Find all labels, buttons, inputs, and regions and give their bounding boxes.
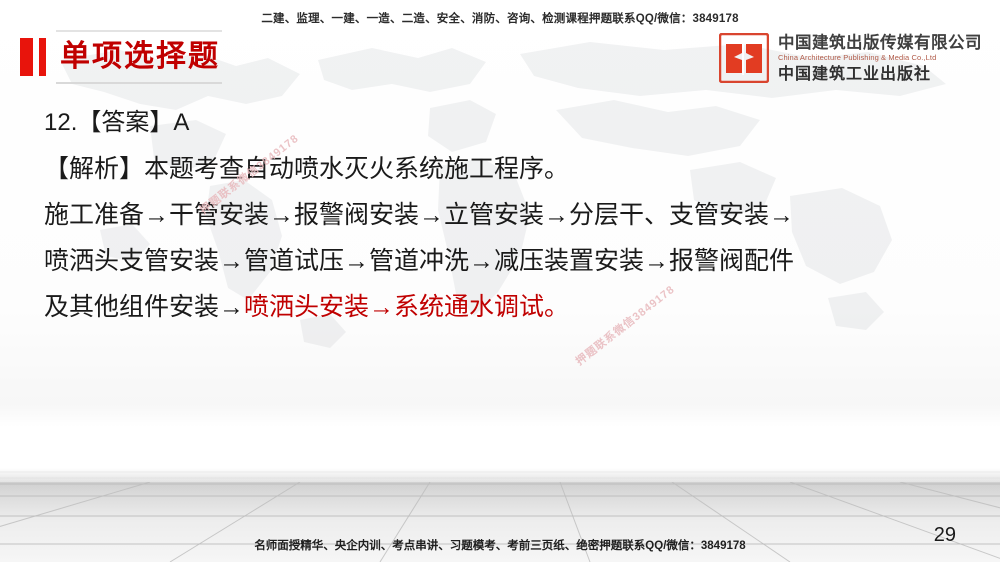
footer-text: 名师面授精华、央企内训、考点串讲、习题模考、考前三页纸、绝密押题联系QQ/微信：… bbox=[0, 537, 1000, 553]
procedure-line-1: 施工准备→干管安装→报警阀安装→立管安装→分层干、支管安装→ bbox=[44, 192, 974, 238]
publisher-logo: 中国建筑出版传媒有限公司 China Architecture Publishi… bbox=[719, 33, 982, 83]
slide-body: 12.【答案】A 【解析】本题考查自动喷水灭火系统施工程序。 施工准备→干管安装… bbox=[44, 100, 974, 330]
procedure-line-3-black: 及其他组件安装→ bbox=[44, 293, 244, 321]
title-accent-bar-primary bbox=[20, 38, 33, 76]
title-underline-rule bbox=[56, 82, 222, 84]
book-logo-icon bbox=[719, 33, 769, 83]
answer-line: 12.【答案】A bbox=[44, 100, 974, 146]
slide-title-block: 单项选择题 bbox=[20, 34, 220, 80]
analysis-line: 【解析】本题考查自动喷水灭火系统施工程序。 bbox=[44, 146, 974, 192]
publisher-company-name-cn: 中国建筑出版传媒有限公司 bbox=[778, 35, 982, 52]
presentation-slide: 二建、监理、一建、一造、二造、安全、消防、咨询、检测课程押题联系QQ/微信：38… bbox=[0, 0, 1000, 562]
title-top-rule bbox=[56, 30, 222, 32]
publisher-company-name-en: China Architecture Publishing & Media Co… bbox=[778, 54, 982, 62]
publisher-press-name-cn: 中国建筑工业出版社 bbox=[778, 66, 982, 82]
procedure-line-3-highlight: 喷洒头安装→系统通水调试。 bbox=[244, 293, 569, 321]
publisher-logo-texts: 中国建筑出版传媒有限公司 China Architecture Publishi… bbox=[778, 35, 982, 82]
procedure-line-3: 及其他组件安装→喷洒头安装→系统通水调试。 bbox=[44, 284, 974, 330]
page-title: 单项选择题 bbox=[60, 42, 220, 72]
page-number: 29 bbox=[934, 524, 956, 547]
top-banner-text: 二建、监理、一建、一造、二造、安全、消防、咨询、检测课程押题联系QQ/微信：38… bbox=[0, 10, 1000, 26]
procedure-line-2: 喷洒头支管安装→管道试压→管道冲洗→减压装置安装→报警阀配件 bbox=[44, 238, 974, 284]
title-accent-bar-secondary bbox=[39, 38, 46, 76]
